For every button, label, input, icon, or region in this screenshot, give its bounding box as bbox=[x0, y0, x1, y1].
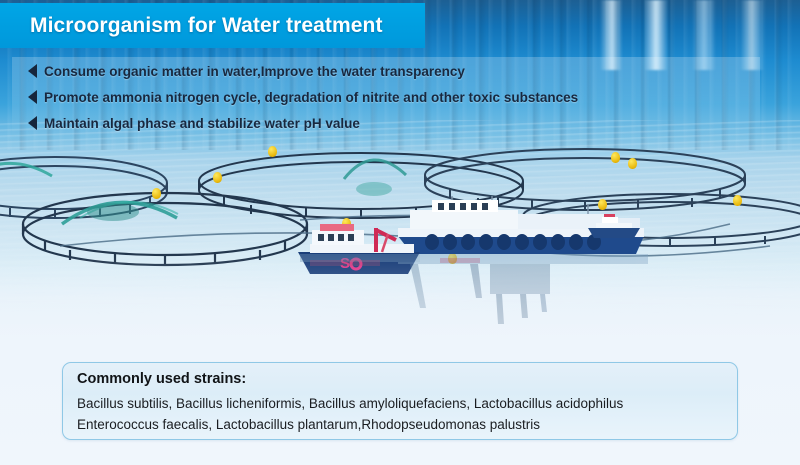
benefit-label: Consume organic matter in water,Improve … bbox=[44, 64, 465, 79]
strain-line: Enterococcus faecalis, Lactobacillus pla… bbox=[77, 414, 737, 435]
small-boat-right bbox=[586, 214, 642, 247]
benefit-label: Promote ammonia nitrogen cycle, degradat… bbox=[44, 90, 578, 105]
benefit-item: Consume organic matter in water,Improve … bbox=[28, 62, 465, 80]
buoy bbox=[628, 158, 637, 169]
buoy bbox=[611, 152, 620, 163]
buoy bbox=[733, 195, 742, 206]
triangle-left-icon bbox=[28, 64, 37, 78]
page-title: Microorganism for Water treatment bbox=[30, 14, 383, 38]
strains-title: Commonly used strains: bbox=[77, 370, 737, 389]
triangle-left-icon bbox=[28, 90, 37, 104]
benefit-label: Maintain algal phase and stabilize water… bbox=[44, 116, 360, 131]
benefit-item: Promote ammonia nitrogen cycle, degradat… bbox=[28, 88, 578, 106]
poster-root: S bbox=[0, 0, 800, 465]
benefit-item: Maintain algal phase and stabilize water… bbox=[28, 114, 360, 132]
header-bar: Microorganism for Water treatment bbox=[0, 3, 425, 48]
buoy bbox=[268, 146, 277, 157]
strain-line: Bacillus subtilis, Bacillus licheniformi… bbox=[77, 393, 737, 414]
triangle-left-icon bbox=[28, 116, 37, 130]
benefits-panel: Consume organic matter in water,Improve … bbox=[12, 57, 760, 139]
buoy bbox=[213, 172, 222, 183]
buoy bbox=[152, 188, 161, 199]
strains-box: Commonly used strains: Bacillus subtilis… bbox=[62, 362, 738, 440]
